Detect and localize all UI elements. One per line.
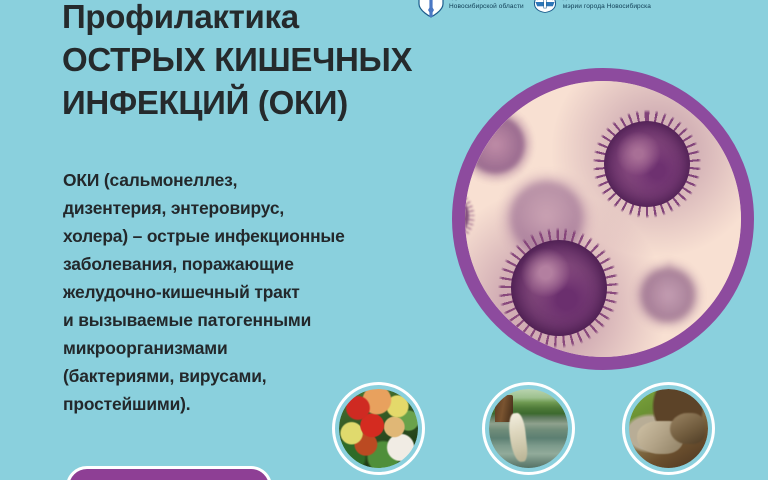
pathogen-core [511, 240, 607, 336]
pathogen-core [604, 121, 691, 208]
body-line-6: и вызываемые патогенными [63, 306, 463, 334]
body-line-8: (бактериями, вирусами, [63, 362, 463, 390]
logo-city-text: департамент мэрии города Новосибирска [563, 0, 651, 11]
thumb-water-inner [489, 389, 568, 468]
thumb-food-inner [339, 389, 418, 468]
microscope-field [465, 81, 741, 357]
cta-button[interactable] [66, 466, 272, 480]
page-title-line-3: ИНФЕКЦИЙ (ОКИ) [62, 82, 462, 125]
microscope-view-of-pathogens [452, 68, 754, 370]
page-title-line-1: Профилактика [62, 0, 462, 39]
body-line-7: микроорганизмами [63, 334, 463, 362]
thumb-dirty-hands [622, 382, 715, 475]
body-line-2: дизентерия, энтеровирус, [63, 194, 463, 222]
page-title: Профилактика ОСТРЫХ КИШЕЧНЫХ ИНФЕКЦИЙ (О… [62, 0, 462, 125]
body-paragraph: ОКИ (сальмонеллез, дизентерия, энтеровир… [63, 166, 463, 418]
thumb-contaminated-water [482, 382, 575, 475]
body-line-4: заболевания, поражающие [63, 250, 463, 278]
body-line-3: холера) – острые инфекционные [63, 222, 463, 250]
thumb-hands-inner [629, 389, 708, 468]
logo-city-line1: департамент [563, 0, 651, 2]
novosibirsk-city-coat-of-arms-icon [532, 0, 558, 18]
poster-root: здравоохранения Новосибирской области де… [0, 0, 768, 480]
polluted-water-photo [489, 389, 568, 468]
body-line-5: желудочно-кишечный тракт [63, 278, 463, 306]
dirty-hands-photo [629, 389, 708, 468]
pathogen-core [641, 268, 695, 322]
header-logo-bar: здравоохранения Новосибирской области де… [418, 0, 768, 20]
thumb-contaminated-food [332, 382, 425, 475]
page-title-line-2: ОСТРЫХ КИШЕЧНЫХ [62, 39, 462, 82]
vegetables-photo [339, 389, 418, 468]
body-line-1: ОКИ (сальмонеллез, [63, 166, 463, 194]
logo-city-line2: мэрии города Новосибирска [563, 2, 651, 11]
logo-city: департамент мэрии города Новосибирска [532, 0, 651, 18]
